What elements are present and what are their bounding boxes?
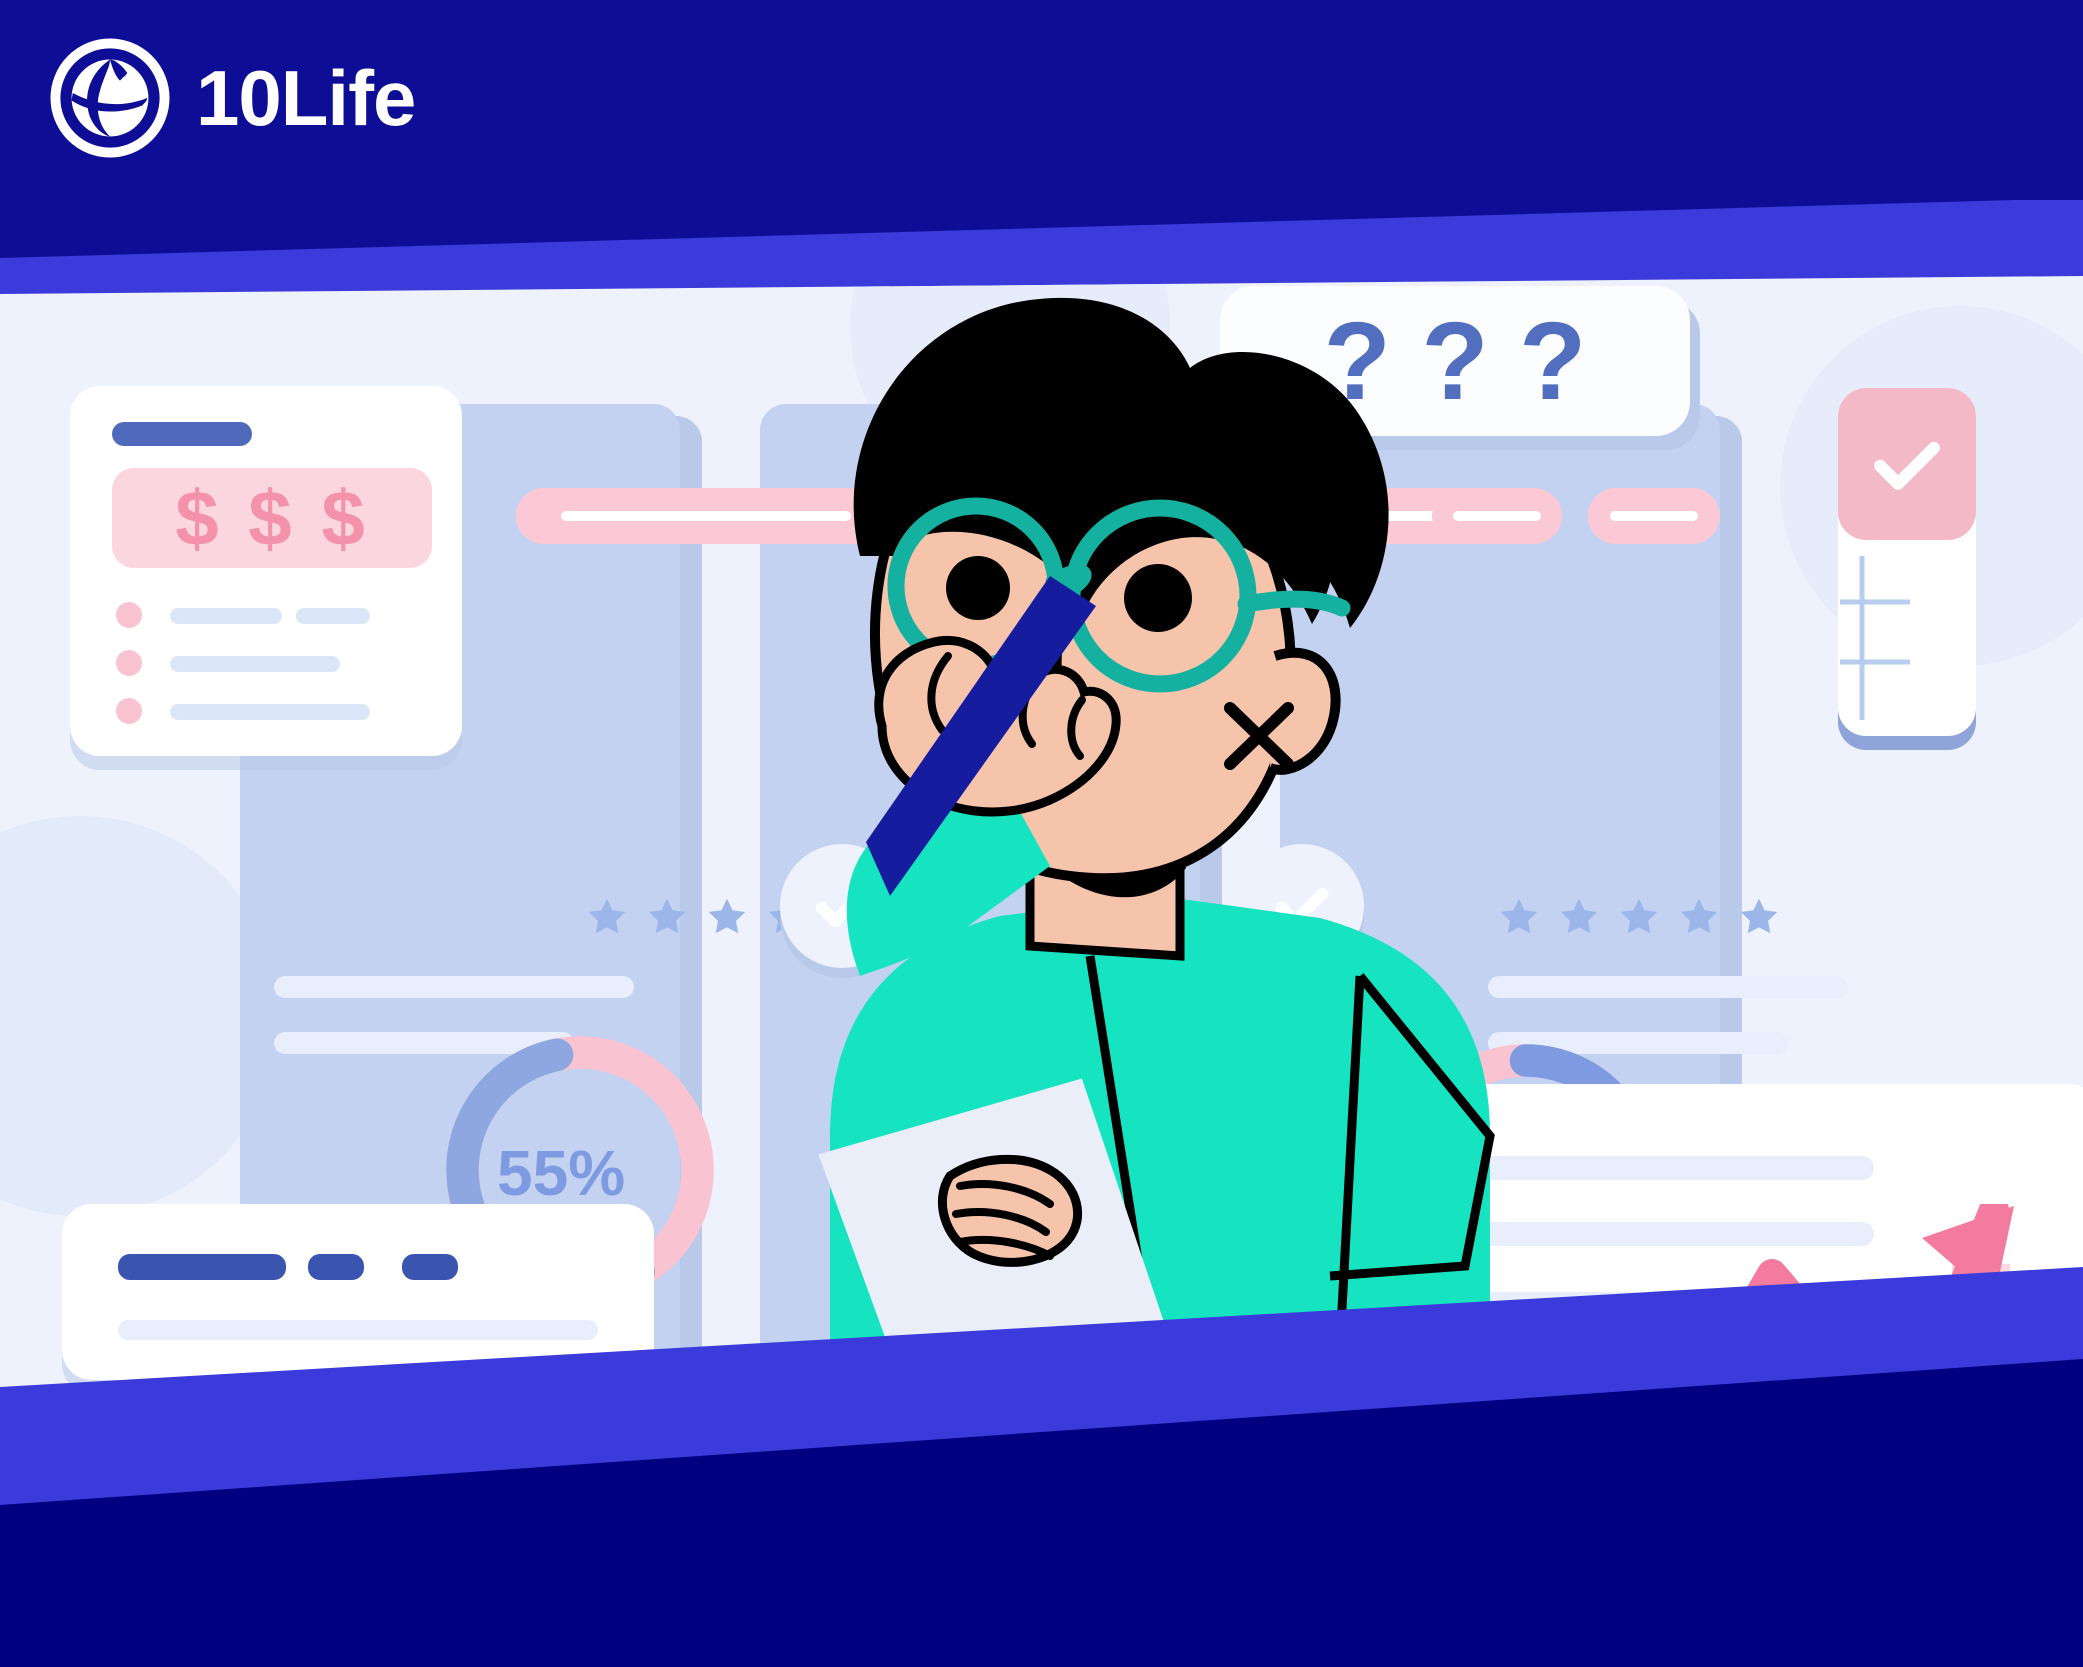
price-bullet-line — [170, 704, 370, 720]
illustration-canvas: 55% 70% $ $ $ — [0, 0, 2083, 1667]
bl-bar-1 — [118, 1254, 286, 1280]
check-card[interactable] — [1838, 388, 1976, 736]
price-bullet-line — [296, 608, 370, 624]
bg-blob-1 — [0, 816, 280, 1216]
check-icon — [1864, 421, 1950, 507]
globe-logo-icon — [48, 36, 172, 160]
brand-logo[interactable]: 10Life — [48, 36, 415, 160]
price-card[interactable]: $ $ $ — [70, 386, 462, 756]
price-card-title-chip — [112, 422, 252, 446]
top-pill-4 — [1588, 488, 1720, 544]
bl-bar-3 — [402, 1254, 458, 1280]
price-bullet-line — [170, 656, 340, 672]
check-card-badge — [1838, 388, 1976, 540]
bl-sub-line — [118, 1320, 598, 1340]
price-bullet-dot — [116, 698, 142, 724]
price-bullet-dot — [116, 650, 142, 676]
price-bullet-line — [170, 608, 282, 624]
star-icon — [1556, 894, 1602, 940]
star-icon — [1736, 894, 1782, 940]
star-icon — [1676, 894, 1722, 940]
bl-bar-2 — [308, 1254, 364, 1280]
star-icon — [1616, 894, 1662, 940]
price-value: $ $ $ — [112, 468, 432, 568]
price-bullet-dot — [116, 602, 142, 628]
check-card-grid-icon — [1838, 540, 1976, 736]
brand-name: 10Life — [196, 59, 415, 137]
